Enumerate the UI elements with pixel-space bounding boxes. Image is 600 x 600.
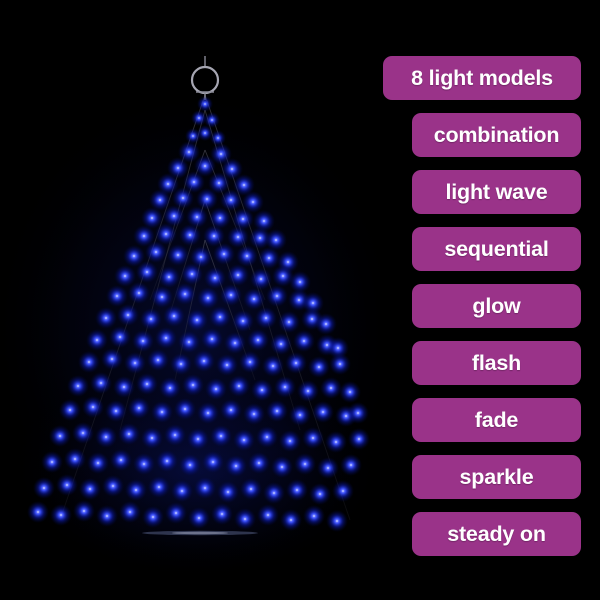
- product-feature-image: 8 light models combination light wave se…: [0, 0, 600, 600]
- light-mode-label-light-wave: light wave: [412, 170, 581, 214]
- christmas-tree-light-photo: [0, 0, 380, 600]
- light-mode-label-8-light-models: 8 light models: [383, 56, 581, 100]
- light-mode-label-steady-on: steady on: [412, 512, 581, 556]
- light-mode-label-glow: glow: [412, 284, 581, 328]
- christmas-tree-led-svg: [0, 0, 380, 600]
- light-mode-label-flash: flash: [412, 341, 581, 385]
- light-mode-label-combination: combination: [412, 113, 581, 157]
- light-mode-label-fade: fade: [412, 398, 581, 442]
- light-mode-label-sparkle: sparkle: [412, 455, 581, 499]
- light-mode-label-list: 8 light models combination light wave se…: [383, 56, 583, 556]
- light-mode-label-sequential: sequential: [412, 227, 581, 271]
